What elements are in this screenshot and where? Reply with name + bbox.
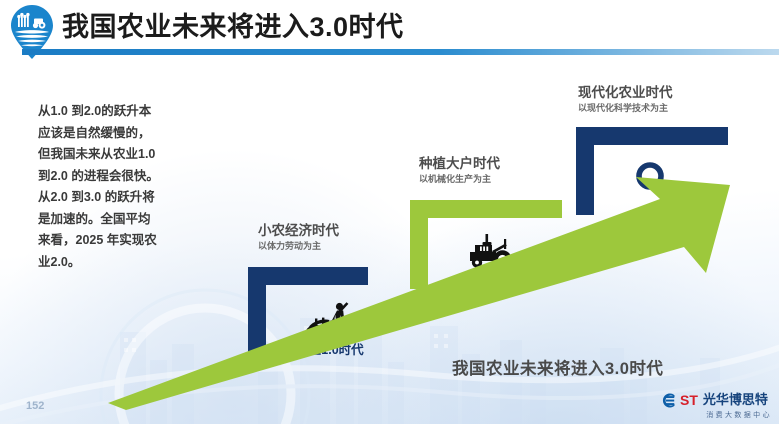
header-divider <box>22 49 779 55</box>
step-heading-3-title: 现代化农业时代 <box>578 84 673 101</box>
step-heading-3-subtitle: 以现代化科学技术为主 <box>578 102 673 115</box>
step-heading-3: 现代化农业时代 以现代化科学技术为主 <box>578 84 673 115</box>
page-title: 我国农业未来将进入3.0时代 <box>62 6 404 48</box>
brand-e-mark-icon <box>660 393 677 408</box>
step-bar-3-horizontal <box>576 127 728 145</box>
slide-canvas: 我国农业未来将进入3.0时代 从1.0 到2.0的跃升本应该是自然缓慢的，但我国… <box>0 0 779 424</box>
brand-logo: ST 光华博思特 消费大数据中心 <box>660 392 772 420</box>
step-heading-2-title: 种植大户时代 <box>419 155 500 172</box>
brand-subtitle: 消费大数据中心 <box>660 410 772 420</box>
page-number: 152 <box>26 400 44 412</box>
brand-cn-text: 光华博思特 <box>703 393 768 407</box>
brand-st-text: ST <box>680 393 698 407</box>
arrow-caption: 我国农业未来将进入3.0时代 <box>452 355 663 379</box>
slide-header: 我国农业未来将进入3.0时代 <box>0 0 779 62</box>
